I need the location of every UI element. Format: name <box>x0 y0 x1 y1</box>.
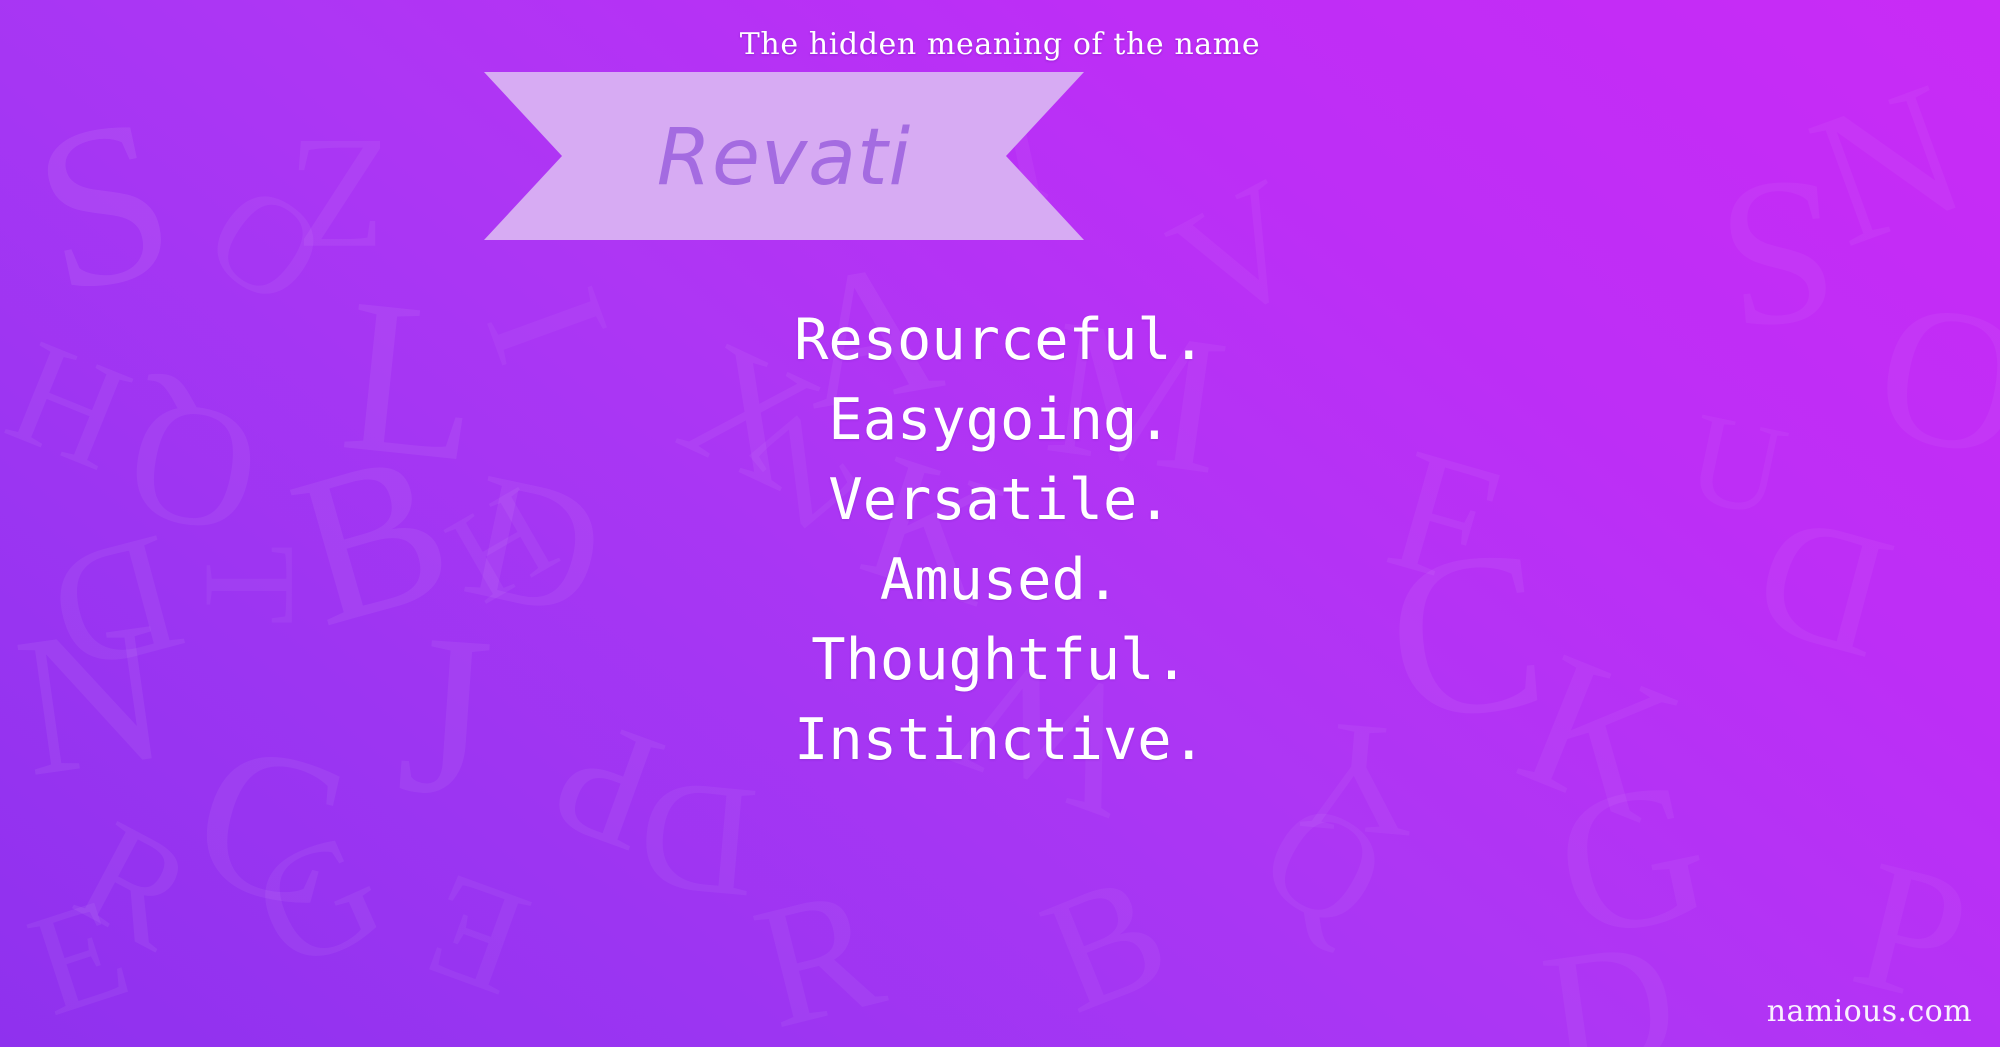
background-letter: R <box>741 858 897 1047</box>
background-letter: E <box>407 849 544 1021</box>
trait-line: Instinctive. <box>0 700 2000 780</box>
background-letter: R <box>56 795 215 974</box>
background-letter: Q <box>1240 773 1409 957</box>
name-ribbon-banner: Revati <box>484 72 1084 240</box>
trait-line: Versatile. <box>0 460 2000 540</box>
trait-line: Easygoing. <box>0 380 2000 460</box>
background-letter: S <box>17 79 190 331</box>
page-title: The hidden meaning of the name <box>0 27 2000 62</box>
trait-line: Thoughtful. <box>0 620 2000 700</box>
background-letter: G <box>232 803 403 996</box>
trait-line: Amused. <box>0 540 2000 620</box>
trait-line: Resourceful. <box>0 300 2000 380</box>
background-letter: D <box>1533 912 1687 1047</box>
name-text: Revati <box>657 119 911 197</box>
background-letter: N <box>1792 52 1986 277</box>
background-letter: E <box>15 875 144 1040</box>
background-letter: G <box>1541 747 1724 973</box>
site-watermark: namious.com <box>1767 994 1972 1029</box>
background-letter: D <box>633 755 762 924</box>
background-letter: B <box>1023 845 1187 1039</box>
name-meaning-card: SHDNREQCGZOLBJTDHPXZDAKRWMVFCKGYQSNODUDP… <box>0 0 2000 1047</box>
trait-list: Resourceful.Easygoing.Versatile.Amused.T… <box>0 300 2000 780</box>
background-letter: Z <box>290 115 388 275</box>
